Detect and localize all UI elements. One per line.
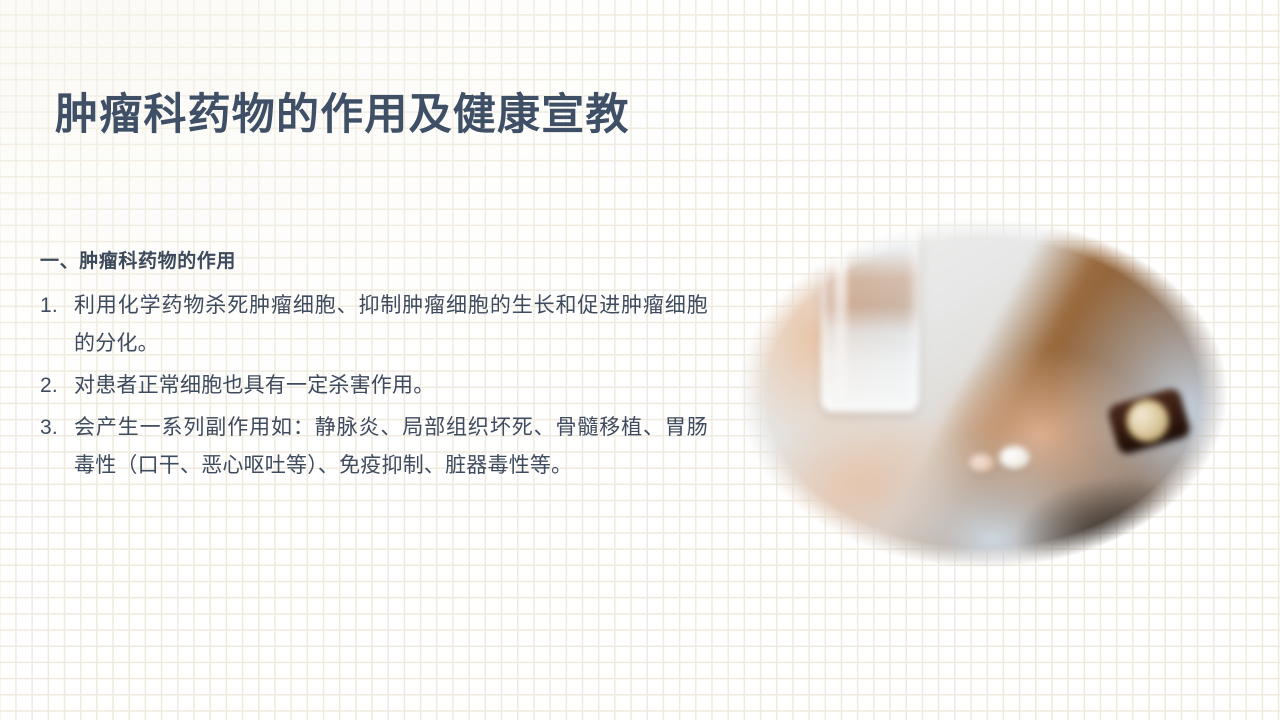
white-tablet-icon <box>999 446 1030 469</box>
numbered-list: 1. 利用化学药物杀死肿瘤细胞、抑制肿瘤细胞的生长和促进肿瘤细胞的分化。 2. … <box>40 287 708 486</box>
glass-of-water-icon <box>821 220 919 412</box>
list-item: 3. 会产生一系列副作用如：静脉炎、局部组织坏死、骨髓移植、胃肠毒性（口干、恶心… <box>40 409 708 485</box>
photo-image <box>737 218 1228 568</box>
list-item-text: 对患者正常细胞也具有一定杀害作用。 <box>74 367 708 405</box>
list-item: 1. 利用化学药物杀死肿瘤细胞、抑制肿瘤细胞的生长和促进肿瘤细胞的分化。 <box>40 287 708 363</box>
page-title: 肿瘤科药物的作用及健康宣教 <box>55 89 630 141</box>
body-content: 一、肿瘤科药物的作用 1. 利用化学药物杀死肿瘤细胞、抑制肿瘤细胞的生长和促进肿… <box>40 248 708 490</box>
list-item-number: 3. <box>40 409 74 447</box>
list-item: 2. 对患者正常细胞也具有一定杀害作用。 <box>40 367 708 405</box>
list-item-number: 1. <box>40 287 74 325</box>
section-heading: 一、肿瘤科药物的作用 <box>40 248 708 277</box>
illustration-photo <box>737 218 1228 568</box>
list-item-text: 利用化学药物杀死肿瘤细胞、抑制肿瘤细胞的生长和促进肿瘤细胞的分化。 <box>74 287 708 363</box>
tablet-icon <box>969 454 994 472</box>
list-item-number: 2. <box>40 367 74 405</box>
list-item-text: 会产生一系列副作用如：静脉炎、局部组织坏死、骨髓移植、胃肠毒性（口干、恶心呕吐等… <box>74 409 708 485</box>
slide-canvas: 肿瘤科药物的作用及健康宣教 一、肿瘤科药物的作用 1. 利用化学药物杀死肿瘤细胞… <box>0 0 1280 720</box>
